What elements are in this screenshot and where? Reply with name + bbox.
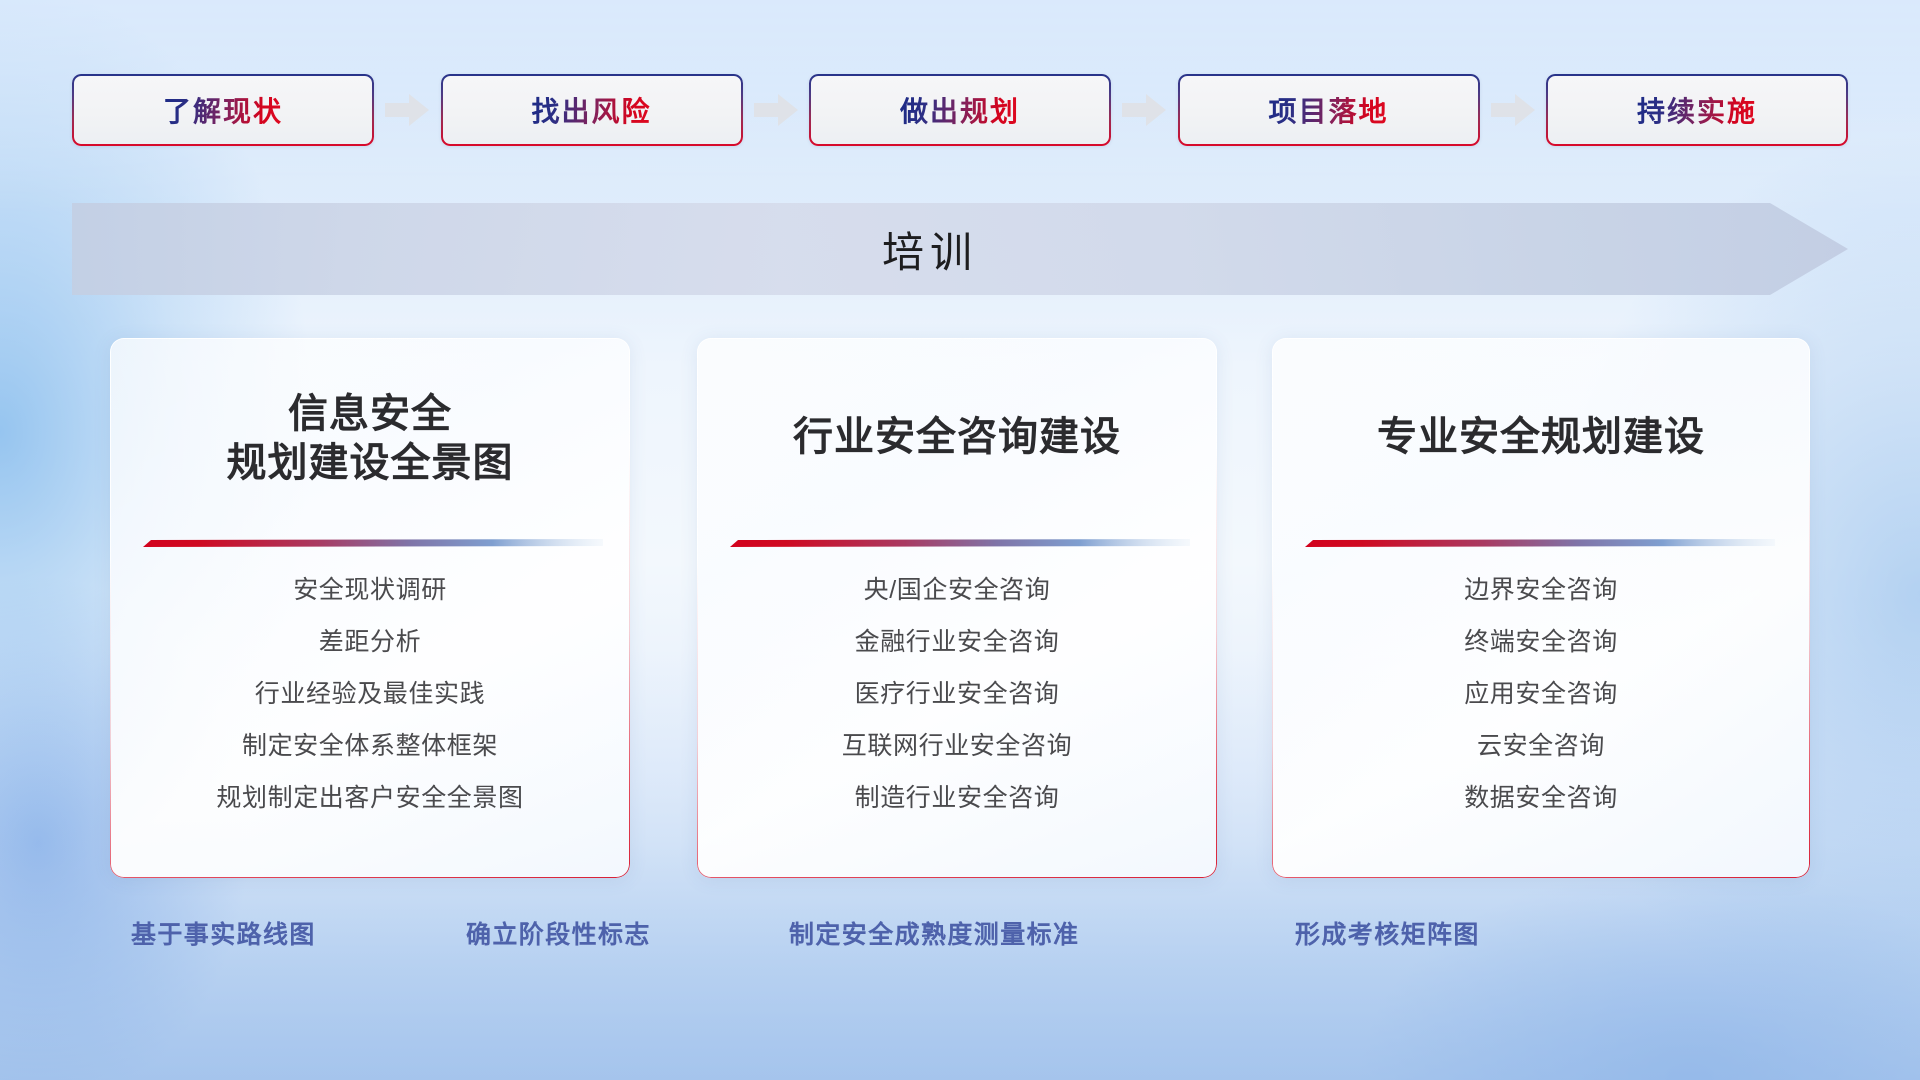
- footnote-label: 制定安全成熟度测量标准: [789, 915, 1079, 951]
- list-item: 终端安全咨询: [1272, 630, 1810, 655]
- list-item: 云安全咨询: [1272, 734, 1810, 759]
- step-label: 找出风险: [531, 90, 651, 130]
- step-label: 做出规划: [900, 90, 1020, 130]
- footnote-label: 形成考核矩阵图: [1295, 915, 1480, 951]
- list-item: 安全现状调研: [110, 578, 630, 603]
- card-item-list: 边界安全咨询 终端安全咨询 应用安全咨询 云安全咨询 数据安全咨询: [1272, 578, 1810, 838]
- training-banner: 培训: [72, 203, 1848, 295]
- list-item: 行业经验及最佳实践: [110, 682, 630, 707]
- card-information-security-blueprint[interactable]: 信息安全 规划建设全景图 安全现状调研 差: [110, 338, 630, 878]
- card-divider: [143, 538, 603, 549]
- card-title-line: 信息安全: [110, 390, 630, 439]
- card-title-line: 专业安全规划建设: [1272, 413, 1810, 462]
- card-title-line: 行业安全咨询建设: [697, 413, 1217, 462]
- step-box-5[interactable]: 持续实施: [1546, 74, 1848, 146]
- step-label: 了解现状: [163, 90, 283, 130]
- card-item-list: 央/国企安全咨询 金融行业安全咨询 医疗行业安全咨询 互联网行业安全咨询 制造行…: [697, 578, 1217, 838]
- step-box-4[interactable]: 项目落地: [1178, 74, 1480, 146]
- list-item: 金融行业安全咨询: [697, 630, 1217, 655]
- step-box-3[interactable]: 做出规划: [809, 74, 1111, 146]
- step-box-2[interactable]: 找出风险: [441, 74, 743, 146]
- card-row: 信息安全 规划建设全景图 安全现状调研 差: [0, 338, 1920, 878]
- footnote-label: 确立阶段性标志: [466, 915, 651, 951]
- process-step-row: 了解现状 找出风险 做出规划 项目落地 持续实施: [72, 74, 1848, 146]
- banner-title: 培训: [72, 203, 1848, 295]
- card-title: 信息安全 规划建设全景图: [110, 390, 630, 488]
- chevron-right-arrow-icon: [754, 94, 798, 126]
- card-divider: [730, 538, 1190, 549]
- list-item: 应用安全咨询: [1272, 682, 1810, 707]
- card-divider: [1305, 538, 1775, 549]
- footnote-row: 基于事实路线图 确立阶段性标志 制定安全成熟度测量标准 形成考核矩阵图: [0, 915, 1920, 955]
- chevron-right-arrow-icon: [385, 94, 429, 126]
- list-item: 制造行业安全咨询: [697, 786, 1217, 811]
- list-item: 制定安全体系整体框架: [110, 734, 630, 759]
- card-title: 专业安全规划建设: [1272, 413, 1810, 462]
- list-item: 互联网行业安全咨询: [697, 734, 1217, 759]
- footnote-label: 基于事实路线图: [131, 915, 316, 951]
- card-item-list: 安全现状调研 差距分析 行业经验及最佳实践 制定安全体系整体框架 规划制定出客户…: [110, 578, 630, 838]
- step-label: 项目落地: [1268, 90, 1388, 130]
- chevron-right-arrow-icon: [1122, 94, 1166, 126]
- card-industry-security-consulting[interactable]: 行业安全咨询建设 央/国企安全咨询 金融行业安全咨询: [697, 338, 1217, 878]
- step-box-1[interactable]: 了解现状: [72, 74, 374, 146]
- list-item: 医疗行业安全咨询: [697, 682, 1217, 707]
- list-item: 规划制定出客户安全全景图: [110, 786, 630, 811]
- step-label: 持续实施: [1637, 90, 1757, 130]
- list-item: 数据安全咨询: [1272, 786, 1810, 811]
- list-item: 央/国企安全咨询: [697, 578, 1217, 603]
- card-professional-security-planning[interactable]: 专业安全规划建设 边界安全咨询 终端安全咨询: [1272, 338, 1810, 878]
- list-item: 边界安全咨询: [1272, 578, 1810, 603]
- card-title-line: 规划建设全景图: [110, 439, 630, 488]
- chevron-right-arrow-icon: [1491, 94, 1535, 126]
- list-item: 差距分析: [110, 630, 630, 655]
- card-title: 行业安全咨询建设: [697, 413, 1217, 462]
